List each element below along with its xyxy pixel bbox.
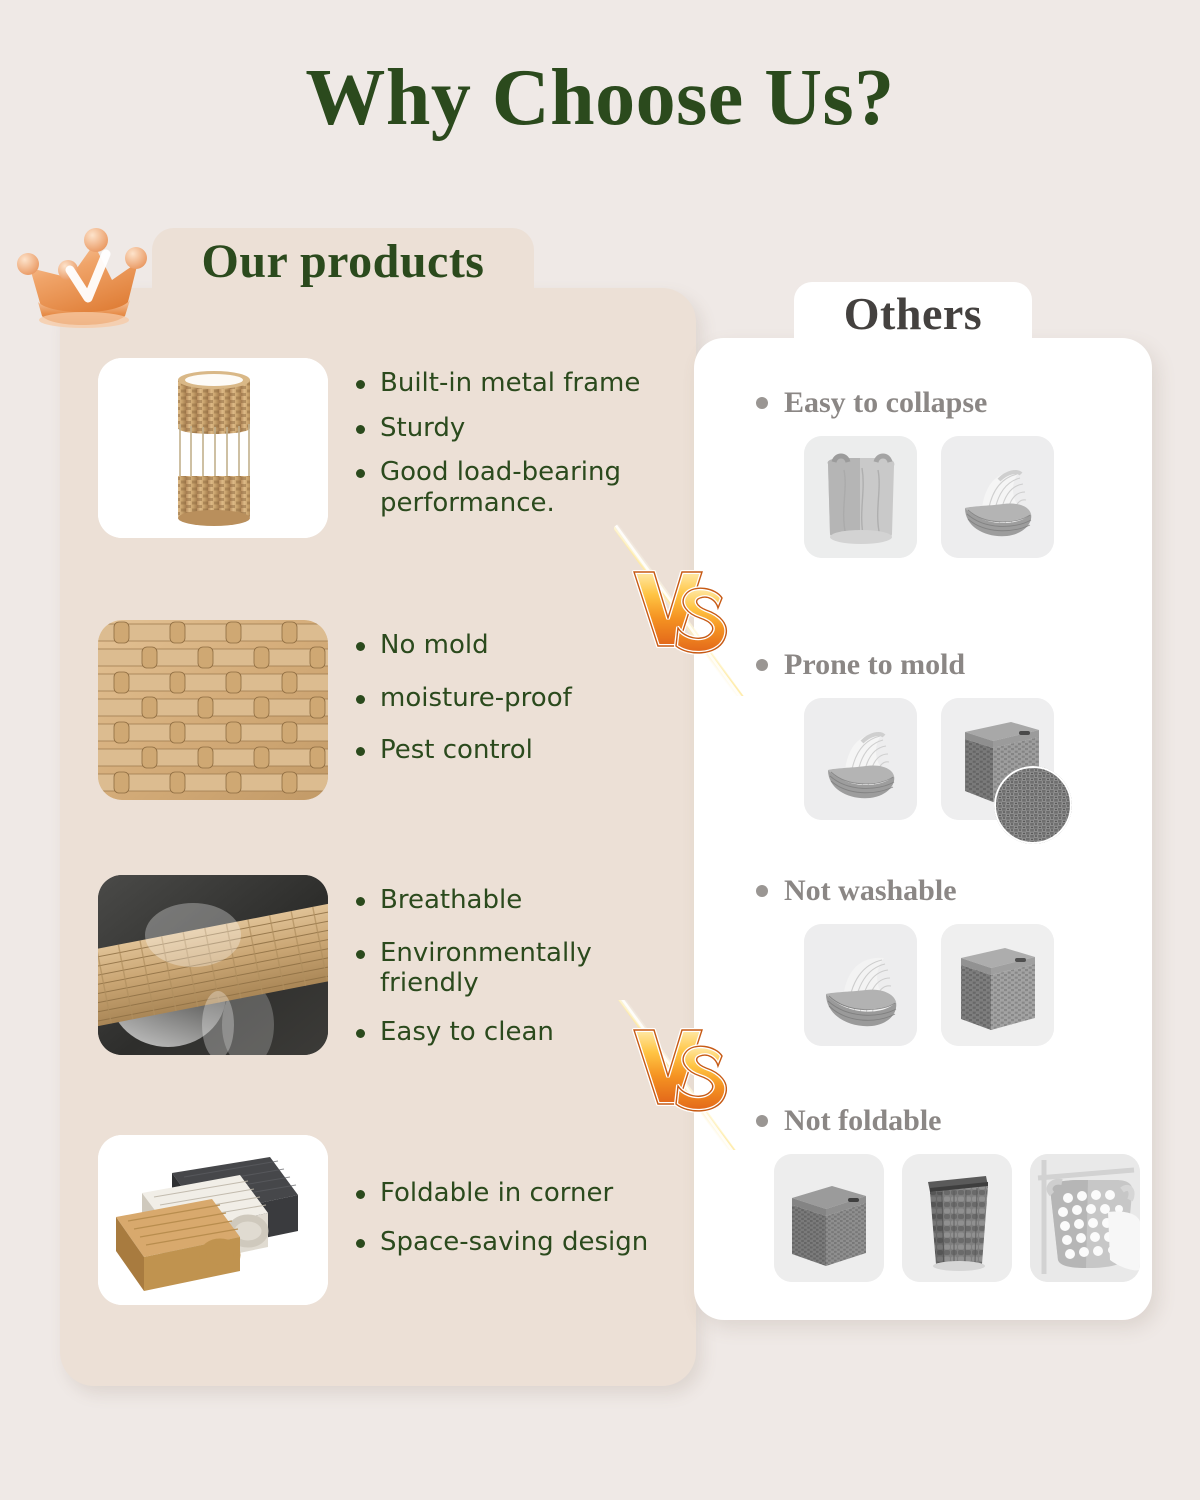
bullet-item: Good load-bearing performance. bbox=[356, 457, 668, 518]
mold-closeup-circle-photo bbox=[994, 766, 1072, 844]
bullet-dot bbox=[356, 1190, 365, 1199]
bullet-dot bbox=[756, 397, 768, 409]
our-product-bullets-4: Foldable in corner Space-saving design bbox=[356, 1168, 668, 1271]
bullet-item: Environmentally friendly bbox=[356, 938, 668, 999]
bullet-dot bbox=[756, 885, 768, 897]
gray-wicker-hamper-lid-photo bbox=[774, 1154, 884, 1282]
others-image-group bbox=[804, 436, 1136, 558]
collapsed-woven-basket-photo bbox=[804, 698, 917, 820]
bullet-item: Built-in metal frame bbox=[356, 368, 668, 399]
bullet-dot bbox=[356, 425, 365, 434]
heading-text: Not washable bbox=[784, 874, 957, 908]
others-section-heading: Not washable bbox=[756, 874, 1136, 908]
others-section-1: Easy to collapse bbox=[756, 386, 1136, 558]
bullet-dot bbox=[356, 642, 365, 651]
rattan-basket-steam-breathable-photo bbox=[98, 875, 328, 1055]
others-section-2: Prone to mold bbox=[756, 648, 1156, 820]
bullet-text: Space-saving design bbox=[380, 1227, 648, 1258]
bullet-text: No mold bbox=[380, 630, 489, 661]
plastic-laundry-basket-photo bbox=[1030, 1154, 1140, 1282]
vs-badge-bottom bbox=[614, 1000, 746, 1150]
bullet-dot bbox=[756, 1115, 768, 1127]
page-title: Why Choose Us? bbox=[0, 58, 1200, 138]
bullet-text: Built-in metal frame bbox=[380, 368, 640, 399]
bullet-dot bbox=[356, 747, 365, 756]
bullet-dot bbox=[356, 897, 365, 906]
tall-wicker-basket-photo bbox=[902, 1154, 1012, 1282]
our-product-row-3: Breathable Environmentally friendly Easy… bbox=[98, 875, 668, 1062]
bullet-dot bbox=[356, 469, 365, 478]
heading-text: Easy to collapse bbox=[784, 386, 987, 420]
bullet-dot bbox=[356, 380, 365, 389]
others-tab-label: Others bbox=[794, 280, 1032, 346]
bullet-item: Breathable bbox=[356, 885, 668, 916]
bullet-text: Environmentally friendly bbox=[380, 938, 630, 999]
heading-text: Prone to mold bbox=[784, 648, 965, 682]
rattan-basket-metal-frame-photo bbox=[98, 358, 328, 538]
bullet-text: moisture-proof bbox=[380, 683, 572, 714]
others-section-heading: Easy to collapse bbox=[756, 386, 1136, 420]
bullet-item: Space-saving design bbox=[356, 1227, 668, 1258]
bullet-dot bbox=[356, 1029, 365, 1038]
bullet-item: Foldable in corner bbox=[356, 1178, 668, 1209]
our-product-row-2: No mold moisture-proof Pest control bbox=[98, 620, 668, 800]
our-product-row-1: Built-in metal frame Sturdy Good load-be… bbox=[98, 358, 668, 538]
others-section-heading: Not foldable bbox=[756, 1104, 1156, 1138]
vs-badge-top bbox=[614, 524, 746, 696]
bullet-item: Pest control bbox=[356, 735, 668, 766]
folded-rattan-baskets-photo bbox=[98, 1135, 328, 1305]
our-product-bullets-1: Built-in metal frame Sturdy Good load-be… bbox=[356, 358, 668, 533]
others-section-4: Not foldable bbox=[756, 1104, 1156, 1282]
bullet-text: Foldable in corner bbox=[380, 1178, 613, 1209]
bullet-text: Easy to clean bbox=[380, 1017, 554, 1048]
bullet-text: Good load-bearing performance. bbox=[380, 457, 668, 518]
our-product-row-4: Foldable in corner Space-saving design bbox=[98, 1135, 668, 1305]
bullet-text: Pest control bbox=[380, 735, 533, 766]
others-section-3: Not washable bbox=[756, 874, 1136, 1046]
collapsed-woven-basket-photo bbox=[804, 924, 917, 1046]
collapsed-fabric-hamper-photo bbox=[804, 436, 917, 558]
bullet-dot bbox=[356, 695, 365, 704]
bullet-dot bbox=[356, 1239, 365, 1248]
bullet-text: Breathable bbox=[380, 885, 522, 916]
bullet-item: Sturdy bbox=[356, 413, 668, 444]
woven-rattan-texture-photo bbox=[98, 620, 328, 800]
our-products-tab-label: Our products bbox=[152, 226, 534, 296]
gray-wicker-hamper-photo bbox=[941, 924, 1054, 1046]
others-image-group bbox=[774, 1154, 1156, 1282]
bullet-dot bbox=[756, 659, 768, 671]
crown-icon bbox=[8, 218, 170, 338]
heading-text: Not foldable bbox=[784, 1104, 942, 1138]
bullet-dot bbox=[356, 950, 365, 959]
bullet-text: Sturdy bbox=[380, 413, 465, 444]
collapsed-woven-basket-photo bbox=[941, 436, 1054, 558]
others-image-group bbox=[804, 924, 1136, 1046]
others-image-group bbox=[804, 698, 1156, 820]
others-section-heading: Prone to mold bbox=[756, 648, 1156, 682]
